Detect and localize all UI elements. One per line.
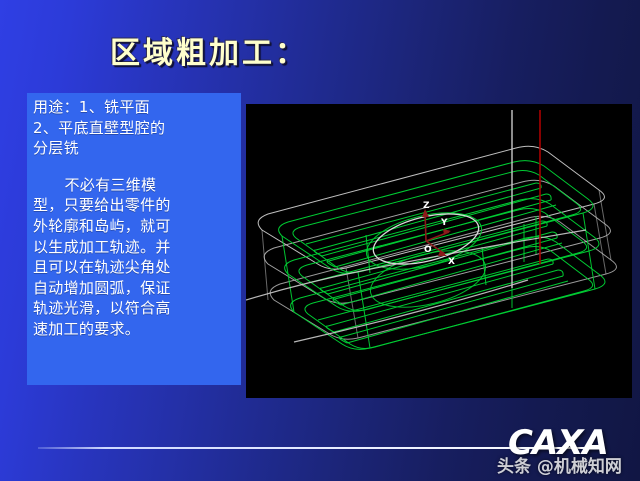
description-line-2: 型，只要给出零件的 (33, 195, 235, 216)
description-line-7: 轨迹光滑，以符合高 (33, 298, 235, 319)
description-line-1: 不必有三维模 (33, 175, 235, 196)
description-line-4: 以生成加工轨迹。并 (33, 237, 235, 258)
axis-label-z: Z (423, 201, 430, 211)
description-line-6: 自动增加圆弧，保证 (33, 278, 235, 299)
description-text-box: 用途：1、铣平面 2、平底直壁型腔的 分层铣 不必有三维模 型，只要给出零件的 … (27, 93, 241, 385)
toolpath-wireframe-graphic: Z Y X O (246, 104, 632, 398)
description-line-3: 外轮廓和岛屿，就可 (33, 216, 235, 237)
usage-line-3: 分层铣 (33, 138, 235, 159)
usage-line-2: 2、平底直壁型腔的 (33, 118, 235, 139)
description-line-5: 且可以在轨迹尖角处 (33, 257, 235, 278)
cad-3d-toolpath-viewport[interactable]: Z Y X O (246, 104, 632, 398)
axis-label-y: Y (440, 218, 448, 228)
axis-label-origin: O (424, 245, 432, 255)
usage-line-1: 用途：1、铣平面 (33, 97, 235, 118)
watermark-text: 头条 @机械知网 (497, 452, 622, 477)
description-line-8: 速加工的要求。 (33, 319, 235, 340)
axis-label-x: X (448, 257, 455, 267)
paragraph-spacer (33, 159, 235, 175)
page-title: 区域粗加工： (110, 28, 308, 72)
presentation-slide: 区域粗加工： 用途：1、铣平面 2、平底直壁型腔的 分层铣 不必有三维模 型，只… (0, 0, 640, 481)
